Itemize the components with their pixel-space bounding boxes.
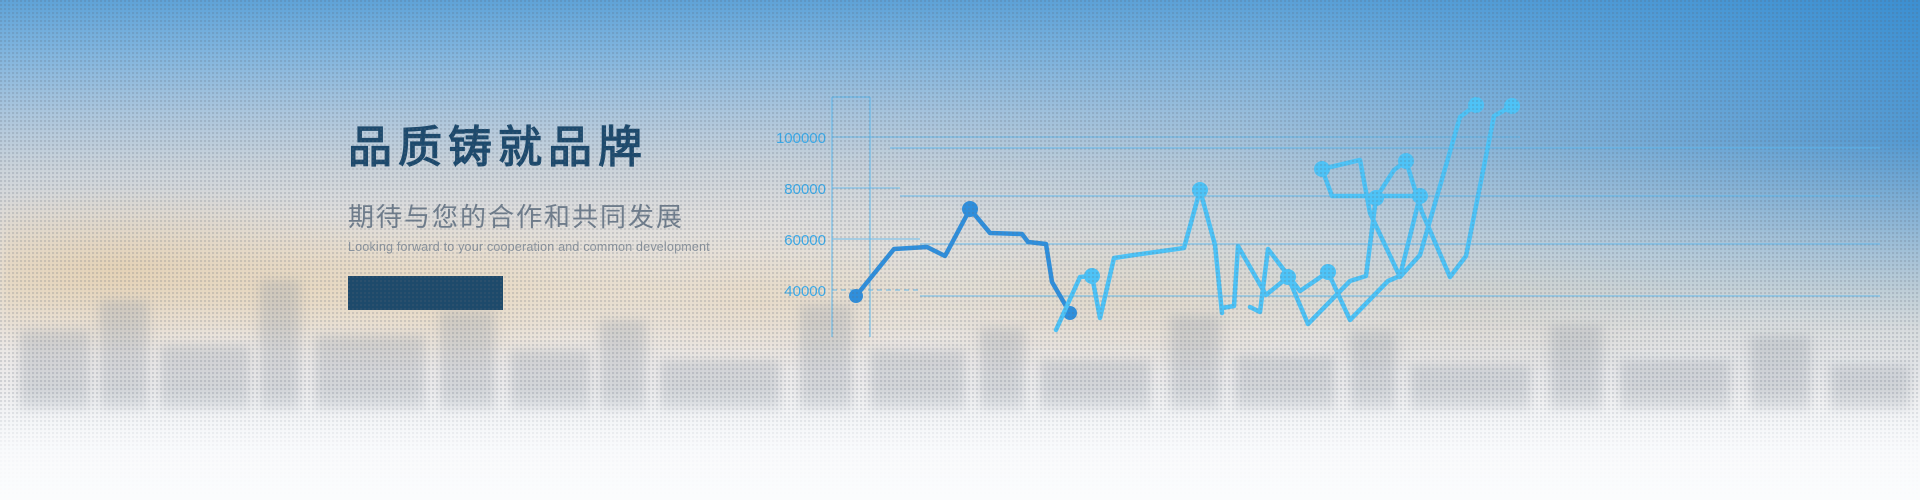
page-title: 品质铸就品牌 [348,120,808,175]
chart-series-3 [1250,97,1484,320]
chart-series-1 [849,201,1077,320]
hero-english-tagline: Looking forward to your cooperation and … [348,240,808,254]
learn-more-button[interactable] [348,276,503,310]
chart-series-2 [1056,182,1222,330]
bottom-fade [0,390,1920,500]
hero-copy: 品质铸就品牌 期待与您的合作和共同发展 Looking forward to y… [348,120,808,310]
hero-banner: 100000 80000 60000 40000 [0,0,1920,500]
hero-subtitle: 期待与您的合作和共同发展 [348,197,808,234]
chart-axes [832,97,870,337]
